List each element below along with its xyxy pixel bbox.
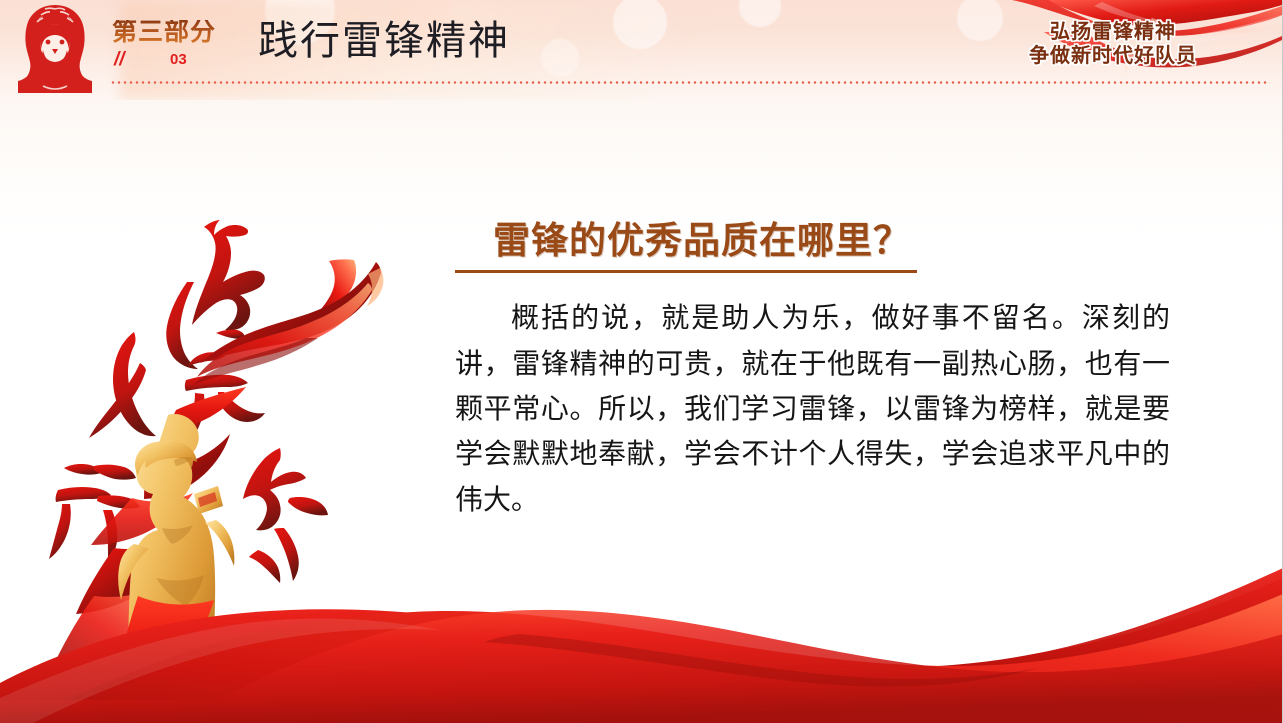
statue-book — [194, 486, 223, 514]
content-heading: 雷锋的优秀品质在哪里？ — [455, 218, 917, 273]
section-label: 第三部分 — [112, 20, 262, 45]
ribbon-slogan: 弘扬雷锋精神 争做新时代好队员 — [988, 21, 1238, 68]
bottom-silk-wave — [0, 538, 1283, 723]
content-block: 雷锋的优秀品质在哪里？ 概括的说，就是助人为乐，做好事不留名。深刻的讲，雷锋精神… — [455, 218, 1185, 522]
section-sub: // 03 — [112, 50, 262, 72]
section-slash: // — [114, 50, 125, 69]
ribbon-slogan-line1: 弘扬雷锋精神 — [988, 21, 1238, 45]
section-number: 03 — [170, 52, 187, 67]
section-label-group: 第三部分 // 03 — [112, 20, 262, 72]
calligraphy-ren — [89, 332, 156, 438]
ribbon-slogan-line2: 争做新时代好队员 — [988, 45, 1238, 69]
slide-root: 第三部分 // 03 践行雷锋精神 — [0, 0, 1283, 723]
page-title: 践行雷锋精神 — [258, 18, 510, 64]
lei-feng-portrait-icon — [12, 2, 98, 98]
content-paragraph: 概括的说，就是助人为乐，做好事不留名。深刻的讲，雷锋精神的可贵，就在于他既有一副… — [455, 295, 1170, 522]
